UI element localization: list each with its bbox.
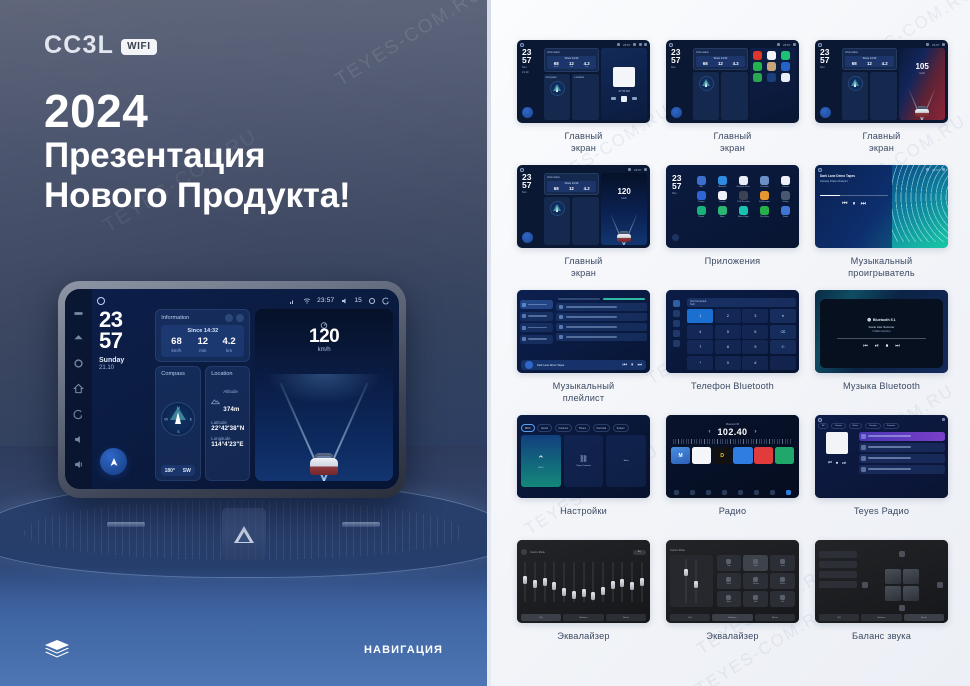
- thumb-since: Since 14:32 68km/h 12min 4.2km: [547, 56, 596, 70]
- app-tile[interactable]: Maps: [713, 206, 732, 218]
- footer-reset[interactable]: Reset: [904, 614, 944, 621]
- preset-grid[interactable]: Pop Rock Jazz Vocal Classic Dance Bass S…: [717, 555, 796, 607]
- footer-eq[interactable]: EQ: [670, 614, 710, 621]
- preset-cell[interactable]: Dance: [770, 573, 795, 589]
- eq-band[interactable]: [550, 558, 558, 610]
- gallery-item[interactable]: 23:57 Custom Mode EQ: [511, 540, 656, 665]
- gallery-item[interactable]: 23:57 23 57 Sun Information: [660, 40, 805, 165]
- thumbnail-teyes-radio[interactable]: All Genres Music Country Favorite ⏮: [815, 415, 948, 498]
- app-tile[interactable]: Gallery: [776, 191, 795, 203]
- hud-speed-value: 120: [255, 327, 393, 346]
- band-icon[interactable]: [674, 490, 679, 495]
- balance-right-button[interactable]: [937, 582, 943, 588]
- caption-line-2: экран: [564, 268, 602, 280]
- balance-btn[interactable]: [819, 581, 857, 588]
- station-presets[interactable]: M D: [671, 447, 794, 464]
- frequency-scale[interactable]: [673, 439, 792, 444]
- thumbnail-caption: Радио: [719, 506, 747, 518]
- app-tile[interactable]: FileManager: [755, 191, 774, 203]
- navigation-button: [671, 107, 682, 118]
- preset-label: Custom Mode: [530, 551, 545, 554]
- key[interactable]: 0: [715, 356, 741, 370]
- slider[interactable]: [684, 559, 688, 603]
- app-label: FileManager: [759, 201, 770, 203]
- rds-icon[interactable]: [738, 490, 743, 495]
- status-bar: 23:57 15: [95, 294, 393, 307]
- key[interactable]: 8: [715, 340, 741, 354]
- gallery-item[interactable]: 23:57 23 57 Sun 21.10: [511, 40, 656, 165]
- number-field[interactable]: Not Connected Null: [687, 298, 796, 307]
- thumb-location: Location: [572, 74, 599, 120]
- chevron-right-icon[interactable]: ›: [754, 429, 756, 435]
- eq-icon[interactable]: [722, 490, 727, 495]
- list-item[interactable]: [556, 323, 647, 331]
- navigation-button: [820, 107, 831, 118]
- frequency-value: 102.40: [718, 427, 748, 437]
- eq-band[interactable]: [599, 558, 607, 610]
- thumbnail-bluetooth-music[interactable]: 23:57 🅑 Bluetooth 5.1 Feels Like Summer …: [815, 290, 948, 373]
- stop-icon[interactable]: ⏹: [836, 460, 838, 465]
- next-icon[interactable]: ⏭: [895, 343, 900, 349]
- eq-band[interactable]: [579, 558, 587, 610]
- eq-band[interactable]: [589, 558, 597, 610]
- caption-line-1: Главный: [713, 131, 751, 143]
- app-tile[interactable]: Bluetooth: [713, 176, 732, 188]
- teyes-radio-ui: All Genres Music Country Favorite ⏮: [815, 415, 948, 498]
- list-item[interactable]: [556, 333, 647, 341]
- chip-country[interactable]: Country: [865, 423, 881, 429]
- loc-icon[interactable]: [754, 490, 759, 495]
- thumb-hud: 105 km/h: [899, 48, 945, 120]
- next-icon[interactable]: ⏭: [637, 362, 642, 368]
- home-icon[interactable]: [73, 383, 84, 394]
- list-item[interactable]: [859, 465, 945, 474]
- gallery-item[interactable]: Dark Lane Demo Tapes Subway Drake Drakea…: [809, 165, 954, 290]
- settings-card-wifi[interactable]: ⌃ Wi-Fi: [521, 435, 561, 487]
- backspace-icon[interactable]: ⌫: [770, 325, 796, 339]
- navigation-button: [522, 232, 533, 243]
- previous-icon[interactable]: ⏮: [828, 460, 832, 465]
- navigation-label: НАВИГАЦИЯ: [364, 644, 443, 656]
- expand-icon[interactable]: [236, 314, 244, 322]
- back-arrow-icon[interactable]: [382, 297, 390, 305]
- gallery-item[interactable]: 23:57 Moscow FM ‹ 102.40 › M: [660, 415, 805, 540]
- list-item[interactable]: [859, 432, 945, 441]
- gallery-item[interactable]: 23:57 23 57 Sun WiFi Bluetooth: [660, 165, 805, 290]
- information-card[interactable]: Information Since 14:32: [155, 309, 250, 362]
- app-label: Radio: [783, 216, 788, 218]
- thumb-minutes: 57: [671, 56, 691, 64]
- settings-card-connect[interactable]: ⛓ Teyes Connect: [564, 435, 604, 487]
- key[interactable]: 3: [742, 309, 768, 323]
- equalizer-footer[interactable]: EQ Balance Reset: [670, 614, 795, 621]
- eq-band[interactable]: [570, 558, 578, 610]
- call-icon[interactable]: ✆: [770, 340, 796, 354]
- preset-cell[interactable]: Vocal: [717, 573, 742, 589]
- seat-map[interactable]: [861, 549, 945, 620]
- thumbnail-settings[interactable]: 23:57 Wi-Fi Sound Common Theme Personal …: [517, 415, 650, 498]
- settings-icon[interactable]: [786, 490, 791, 495]
- thumbnail-equalizer-bars[interactable]: 23:57 Custom Mode EQ: [517, 540, 650, 623]
- preset-cell[interactable]: Bass: [717, 591, 742, 607]
- player-controls[interactable]: ⏮ ⏯ ⏹ ⏭: [863, 343, 900, 349]
- app-tile[interactable]: Calculator: [755, 176, 774, 188]
- now-playing-bar[interactable]: Dark Lane Demo Tapes ⏮ ⏸ ⏭: [521, 360, 646, 370]
- thumb-widgets: Information Since 14:32 68 12 4.2: [842, 48, 898, 120]
- thumbnail-home-hud[interactable]: 23:57 23 57 Sun Information: [517, 165, 650, 248]
- thumbnail-caption: Главный экран: [713, 131, 751, 154]
- preset-cell[interactable]: Classic: [743, 573, 768, 589]
- hud-panel[interactable]: 120 km/h: [255, 309, 393, 481]
- dual-sliders[interactable]: [670, 555, 713, 607]
- widget-column: Information Since 14:32: [155, 309, 250, 481]
- thumb-lower-widgets: [544, 197, 600, 245]
- previous-icon[interactable]: ⏮: [622, 362, 627, 368]
- bluetooth-icon: 🅑: [867, 318, 871, 323]
- next-icon[interactable]: ⏭: [861, 201, 866, 208]
- gallery-icon: [781, 191, 790, 200]
- product-logo: CC3L WIFI: [44, 33, 157, 58]
- station-list[interactable]: [859, 432, 945, 480]
- app-tile[interactable]: Music Player: [734, 206, 753, 218]
- app-tile[interactable]: Camera: [776, 176, 795, 188]
- car-3d-model: [915, 106, 929, 117]
- preset-selector[interactable]: EQ: [633, 550, 646, 555]
- wave-lines: [892, 165, 948, 242]
- preset-cell[interactable]: Live: [770, 591, 795, 607]
- frequency-row: ‹ 102.40 ›: [669, 427, 796, 437]
- thumb-lower-widgets: [693, 72, 749, 120]
- footer-reset[interactable]: Reset: [606, 614, 646, 621]
- gallery-item[interactable]: 23:57: [809, 540, 954, 665]
- progress-bar[interactable]: [837, 338, 926, 339]
- key[interactable]: 2: [715, 309, 741, 323]
- stop-icon[interactable]: ⏹: [886, 343, 889, 349]
- thumb-compass: Compass: [544, 74, 571, 120]
- previous-icon[interactable]: ⏮: [863, 343, 868, 349]
- thumb-clock: 23 57 Sun 21.10: [520, 48, 542, 120]
- balance-btn[interactable]: [819, 561, 857, 568]
- phone-sidebar[interactable]: [669, 298, 684, 370]
- location-card[interactable]: Location Altitude 374m: [205, 366, 250, 482]
- gallery-item[interactable]: 23:57 23 57 Sun Information: [809, 40, 954, 165]
- back-icon[interactable]: [73, 409, 84, 420]
- app-tile[interactable]: Play Store: [755, 206, 774, 218]
- balance-footer[interactable]: EQ Balance Reset: [819, 614, 944, 621]
- tab-common[interactable]: Common: [555, 424, 573, 432]
- app-tile[interactable]: Radio: [776, 206, 795, 218]
- footer-reset[interactable]: Reset: [755, 614, 795, 621]
- eq-band[interactable]: [540, 558, 548, 610]
- tab-system[interactable]: System: [613, 424, 629, 432]
- thumb-widgets: Information Since 14:32 68km/h 12min 4.2…: [544, 48, 600, 120]
- slider[interactable]: [694, 559, 698, 603]
- chevron-left-icon[interactable]: ‹: [709, 429, 711, 435]
- app-tile[interactable]: WiFi: [692, 176, 711, 188]
- thumbnail-home-media[interactable]: 23:57 23 57 Sun 21.10: [517, 40, 650, 123]
- search-icon[interactable]: [690, 490, 695, 495]
- thumb-info-title: Information: [547, 51, 596, 54]
- track-artist: Childish Gambino: [872, 331, 890, 333]
- gear-icon[interactable]: [73, 358, 84, 369]
- eq-band[interactable]: [638, 558, 646, 610]
- thumb-since-label: Since 14:32: [698, 57, 744, 60]
- balance-ui: EQ Balance Reset: [815, 540, 948, 623]
- preset-cell[interactable]: Jazz: [770, 555, 795, 571]
- equalizer-header: Custom Mode EQ: [521, 549, 646, 555]
- volume-down-icon[interactable]: [73, 434, 84, 445]
- refresh-icon[interactable]: [225, 314, 233, 322]
- app-tile[interactable]: Carplay: [713, 191, 732, 203]
- teyes-body: ⏮ ⏹ ⏭: [818, 432, 945, 480]
- wifi-icon: ⌃: [537, 454, 545, 465]
- player-info: Dark Lane Demo Tapes Subway Drake Drakea…: [815, 165, 892, 248]
- thumbnail-caption: Главный экран: [564, 256, 602, 279]
- altitude-label: Altitude: [223, 389, 238, 394]
- caption-line-2: плейлист: [553, 393, 615, 405]
- caption-line-1: Главный: [564, 256, 602, 268]
- tab-personal[interactable]: Personal: [593, 424, 610, 432]
- altitude-value: 374m: [223, 406, 239, 413]
- card-label: More: [624, 460, 629, 462]
- play-pause-icon[interactable]: ⏯: [875, 343, 879, 349]
- settings-tabs[interactable]: Wi-Fi Sound Common Theme Personal System: [521, 424, 646, 432]
- footer-balance[interactable]: Balance: [712, 614, 752, 621]
- gallery-item[interactable]: 23:57 23 57 Sun Information: [511, 165, 656, 290]
- hazard-light-button[interactable]: [222, 508, 266, 560]
- thumbnail-bluetooth-phone[interactable]: 23:57 Not Connected: [666, 290, 799, 373]
- thumb-hud: 120 km/h: [601, 173, 647, 245]
- key[interactable]: 6: [742, 325, 768, 339]
- thumb-compass-title: Compass: [546, 76, 569, 79]
- preset-tile[interactable]: [775, 447, 794, 464]
- thumbnail-caption: Телефон Bluetooth: [691, 381, 774, 393]
- playlist-ui: Dark Lane Demo Tapes ⏮ ⏸ ⏭: [517, 290, 650, 373]
- gallery-item[interactable]: All Genres Music Country Favorite ⏮: [809, 415, 954, 540]
- dialpad-icon[interactable]: [673, 300, 680, 307]
- app-tile[interactable]: DVR Recorder: [734, 191, 753, 203]
- compass-direction: SW: [178, 468, 195, 474]
- bluetooth-icon: [718, 176, 727, 185]
- preset-tile[interactable]: [733, 447, 752, 464]
- sidebar-item[interactable]: [520, 300, 553, 309]
- eq-band[interactable]: [521, 558, 529, 610]
- preset-tile[interactable]: D: [713, 447, 732, 464]
- app-tile[interactable]: Chrome: [692, 191, 711, 203]
- balance-left-button[interactable]: [862, 582, 868, 588]
- back-icon: [672, 234, 679, 241]
- eq-band[interactable]: [609, 558, 617, 610]
- balance-down-button[interactable]: [899, 605, 905, 611]
- radio-icon: [781, 206, 790, 215]
- thumbnail-home-hud-red[interactable]: 23:57 23 57 Sun Information: [815, 40, 948, 123]
- equalizer-header: Custom Mode: [670, 549, 795, 552]
- thumb-location-title: Location: [574, 76, 597, 79]
- compass-card[interactable]: Compass N S W: [155, 366, 201, 482]
- key[interactable]: 9: [742, 340, 768, 354]
- preset-tile[interactable]: M: [671, 447, 690, 464]
- eject-icon[interactable]: [73, 333, 84, 344]
- favorite-icon[interactable]: ★: [770, 309, 796, 323]
- compass-n: N: [177, 405, 180, 410]
- footer-eq[interactable]: EQ: [521, 614, 561, 621]
- thumbnail-caption: Главный экран: [862, 131, 900, 154]
- settings-icon[interactable]: [673, 340, 680, 347]
- gallery-item[interactable]: 23:57: [511, 290, 656, 415]
- layers-icon[interactable]: [44, 639, 70, 661]
- volume-up-icon[interactable]: [73, 459, 84, 470]
- thumb-since: Since 14:32 68 12 4.2: [845, 56, 894, 68]
- maps-icon: [718, 206, 727, 215]
- af-icon[interactable]: [770, 490, 775, 495]
- preset-cell[interactable]: Rock: [743, 555, 768, 571]
- side-button-rail[interactable]: [65, 289, 92, 489]
- tab-wifi[interactable]: Wi-Fi: [521, 424, 535, 432]
- thumbnail-caption: Эквалайзер: [557, 631, 609, 643]
- stat-value: 4.2: [216, 337, 242, 347]
- home-circle-icon[interactable]: [97, 297, 105, 305]
- station-artwork: ⏮ ⏹ ⏭: [818, 432, 856, 480]
- list-icon[interactable]: [706, 490, 711, 495]
- player-controls[interactable]: ⏮ ⏸ ⏭: [820, 201, 888, 208]
- list-item[interactable]: [556, 303, 647, 311]
- preset-tile[interactable]: [754, 447, 773, 464]
- thumbnail-caption: Приложения: [705, 256, 761, 268]
- thumb-speed-unit: km/h: [601, 197, 647, 200]
- power-icon[interactable]: [73, 308, 84, 319]
- app-label: Private: [698, 216, 704, 218]
- thumbnail-equalizer-sliders[interactable]: 23:57 Custom Mode: [666, 540, 799, 623]
- key[interactable]: 7: [687, 340, 713, 354]
- chip-favorite[interactable]: Favorite: [883, 423, 899, 429]
- gear-icon[interactable]: [368, 297, 376, 305]
- history-icon[interactable]: [673, 320, 680, 327]
- eq-band[interactable]: [618, 558, 626, 610]
- thumb-speed-unit: km/h: [899, 72, 945, 75]
- preset-tile[interactable]: [692, 447, 711, 464]
- vent-slot-left: [107, 522, 145, 527]
- stat-unit: min: [190, 348, 216, 353]
- list-item[interactable]: [859, 443, 945, 452]
- contacts-icon[interactable]: [673, 310, 680, 317]
- sidebar-item[interactable]: [520, 323, 553, 332]
- playlist-tabs[interactable]: [556, 298, 647, 301]
- volume-level: 15: [354, 297, 362, 304]
- thumb-weekday: Sun: [820, 66, 840, 69]
- thumbnail-home-apps[interactable]: 23:57 23 57 Sun Information: [666, 40, 799, 123]
- now-playing-title: Dark Lane Demo Tapes: [537, 364, 618, 367]
- sidebar-item[interactable]: [520, 312, 553, 321]
- settings-card-more[interactable]: More: [606, 435, 646, 487]
- radio-toolbar[interactable]: [669, 489, 796, 496]
- tab-sound[interactable]: Sound: [537, 424, 552, 432]
- thumbnail-playlist[interactable]: 23:57: [517, 290, 650, 373]
- footer-balance[interactable]: Balance: [861, 614, 901, 621]
- play-store-icon: [760, 206, 769, 215]
- thumbnail-caption: Главный экран: [564, 131, 602, 154]
- caption-line-2: экран: [713, 143, 751, 155]
- tab-theme[interactable]: Theme: [575, 424, 590, 432]
- teyes-tabs[interactable]: All Genres Music Country Favorite: [818, 423, 945, 429]
- key[interactable]: *: [687, 356, 713, 370]
- footer-eq[interactable]: EQ: [819, 614, 859, 621]
- navigation-button[interactable]: [100, 448, 127, 475]
- key[interactable]: 5: [715, 325, 741, 339]
- key[interactable]: 4: [687, 325, 713, 339]
- lower-widgets: Compass N S W: [155, 366, 250, 482]
- progress-bar[interactable]: [820, 195, 888, 196]
- preset-cell[interactable]: Pop: [717, 555, 742, 571]
- next-icon[interactable]: ⏭: [842, 460, 846, 465]
- thumb-time: 23:57: [932, 168, 940, 172]
- favorites-icon[interactable]: [673, 330, 680, 337]
- footer-balance[interactable]: Balance: [563, 614, 603, 621]
- thumb-info-card: Information Since 14:32 68 12 4.2: [693, 48, 749, 70]
- gallery-item[interactable]: 23:57 Custom Mode: [660, 540, 805, 665]
- gallery-item[interactable]: 23:57 Wi-Fi Sound Common Theme Personal …: [511, 415, 656, 540]
- previous-icon[interactable]: ⏮: [842, 201, 847, 208]
- pause-icon[interactable]: ⏸: [853, 201, 856, 208]
- gallery-item[interactable]: 23:57 Not Connected: [660, 290, 805, 415]
- balance-buttons[interactable]: [819, 549, 857, 620]
- chip-music[interactable]: Music: [849, 423, 863, 429]
- list-item[interactable]: [859, 454, 945, 463]
- app-label: Gallery: [782, 201, 788, 203]
- thumb-stat: 68: [698, 62, 713, 66]
- headline-year: 2024: [44, 88, 350, 136]
- camera-icon: [781, 176, 790, 185]
- thumb-clock: 23 57 Sun: [670, 174, 689, 244]
- thumb-info-card: Information Since 14:32 68km/h 12min 4.2…: [544, 48, 600, 72]
- app-tile[interactable]: Bluetooth Music: [734, 176, 753, 188]
- thumb-home-ui: 23 57 Sun Information Since 14:32: [517, 165, 650, 248]
- eq-band[interactable]: [628, 558, 636, 610]
- head-unit-device: 23:57 15 23 57 Sunday 21.10: [58, 281, 406, 498]
- sidebar-item[interactable]: [520, 335, 553, 344]
- thumb-minutes: 57: [672, 182, 689, 190]
- pause-icon[interactable]: ⏸: [631, 362, 634, 368]
- calculator-icon: [760, 176, 769, 185]
- thumbnail-radio[interactable]: 23:57 Moscow FM ‹ 102.40 › M: [666, 415, 799, 498]
- balance-btn[interactable]: [819, 571, 857, 578]
- keypad[interactable]: 1 2 3 ★ 4 5 6 ⌫ 7 8 9 ✆: [687, 309, 796, 370]
- app-tile[interactable]: Private: [692, 206, 711, 218]
- hero-footer: НАВИГАЦИЯ: [0, 614, 487, 686]
- thumb-weekday: Sun: [522, 66, 542, 69]
- chip-genres[interactable]: Genres: [831, 423, 846, 429]
- list-item[interactable]: [556, 313, 647, 321]
- thumb-minutes: 57: [820, 56, 840, 64]
- gallery-item[interactable]: 23:57 🅑 Bluetooth 5.1 Feels Like Summer …: [809, 290, 954, 415]
- thumbnail-sound-balance[interactable]: 23:57: [815, 540, 948, 623]
- altitude-row: Altitude 374m: [211, 380, 244, 416]
- clock-widget[interactable]: 23 57 Sunday 21.10: [95, 309, 151, 481]
- balance-up-button[interactable]: [899, 551, 905, 557]
- thumb-compass: [544, 197, 571, 245]
- preset-cell[interactable]: Soft: [743, 591, 768, 607]
- clock-hours: 23: [99, 309, 151, 330]
- eq-band[interactable]: [560, 558, 568, 610]
- equalizer-footer[interactable]: EQ Balance Reset: [521, 614, 646, 621]
- key[interactable]: #: [742, 356, 768, 370]
- key[interactable]: 1: [687, 309, 713, 323]
- balance-btn[interactable]: [819, 551, 857, 558]
- chip-all[interactable]: All: [818, 423, 828, 429]
- thumbnail-music-player[interactable]: Dark Lane Demo Tapes Subway Drake Drakea…: [815, 165, 948, 248]
- eq-band[interactable]: [531, 558, 539, 610]
- eq-sliders[interactable]: [521, 558, 646, 610]
- thumbnail-apps[interactable]: 23:57 23 57 Sun WiFi Bluetooth: [666, 165, 799, 248]
